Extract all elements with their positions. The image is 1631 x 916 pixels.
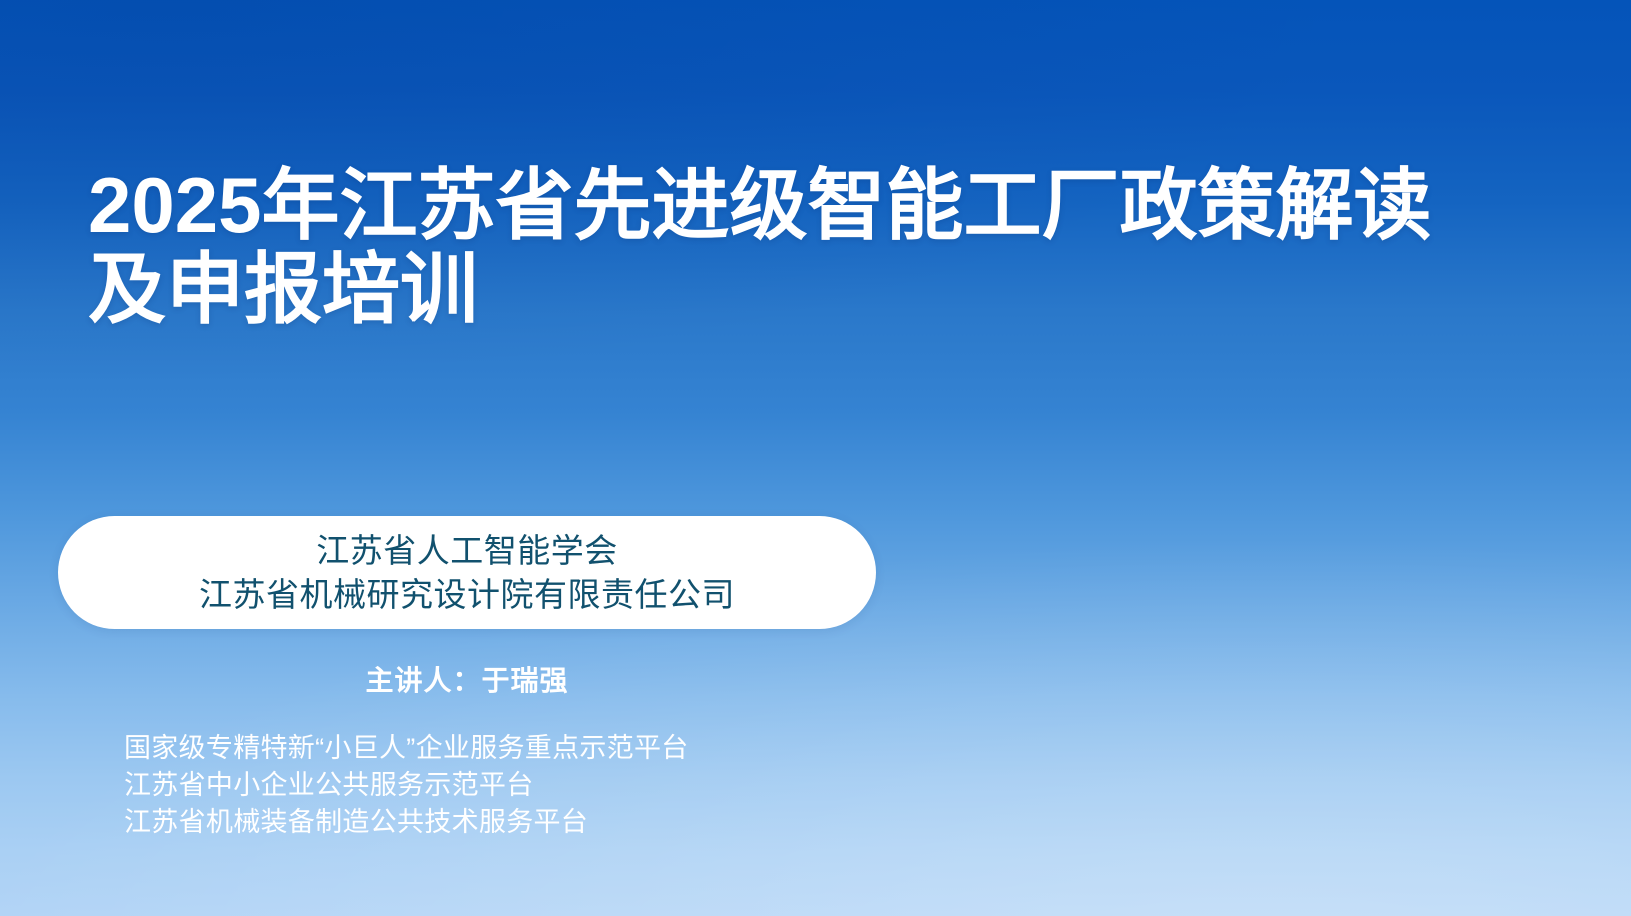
speaker-label: 主讲人：于瑞强 xyxy=(58,662,876,700)
organization-name-primary: 江苏省人工智能学会 xyxy=(316,529,618,573)
title-line-2: 及申报培训 xyxy=(88,247,1508,331)
credential-line-3: 江苏省机械装备制造公共技术服务平台 xyxy=(124,804,689,841)
credential-line-1: 国家级专精特新“小巨人”企业服务重点示范平台 xyxy=(124,730,689,767)
credentials-list: 国家级专精特新“小巨人”企业服务重点示范平台 江苏省中小企业公共服务示范平台 江… xyxy=(124,730,689,841)
page-title: 2025年江苏省先进级智能工厂政策解读 及申报培训 xyxy=(88,163,1508,331)
title-line-1: 2025年江苏省先进级智能工厂政策解读 xyxy=(88,163,1508,247)
organization-pill: 江苏省人工智能学会 江苏省机械研究设计院有限责任公司 xyxy=(58,516,876,629)
credential-line-2: 江苏省中小企业公共服务示范平台 xyxy=(124,767,689,804)
presentation-slide: 2025年江苏省先进级智能工厂政策解读 及申报培训 江苏省人工智能学会 江苏省机… xyxy=(0,0,1631,916)
organization-name-secondary: 江苏省机械研究设计院有限责任公司 xyxy=(199,573,735,617)
